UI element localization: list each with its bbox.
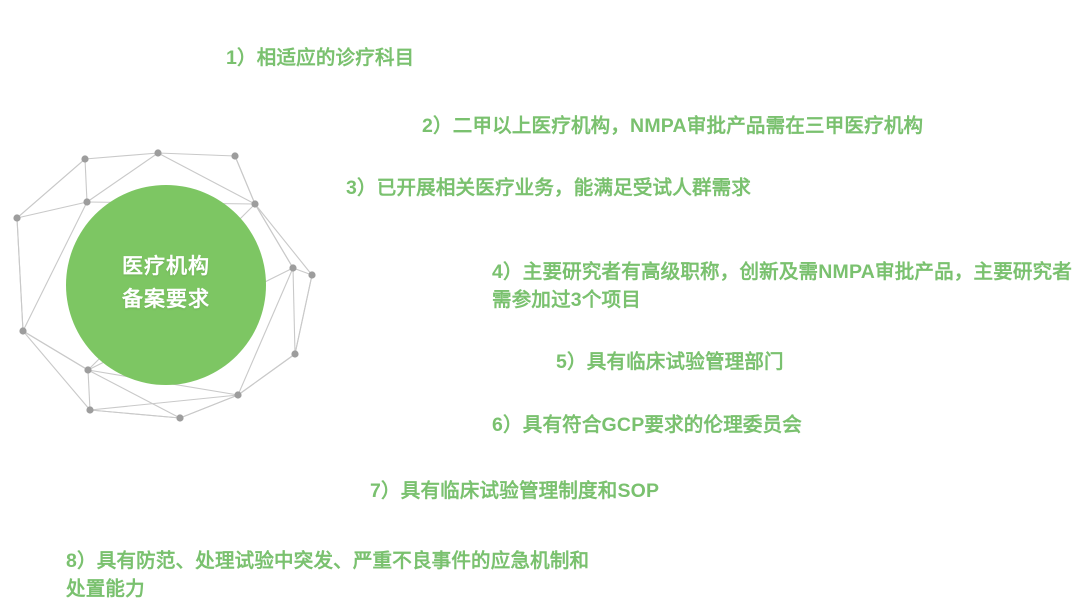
- bullet-item-5: 5）具有临床试验管理部门: [556, 348, 784, 376]
- bullet-item-1: 1）相适应的诊疗科目: [226, 44, 414, 72]
- hub-label-line1: 医疗机构: [66, 250, 266, 283]
- bullet-item-6: 6）具有符合GCP要求的伦理委员会: [492, 411, 802, 439]
- network-diagram: 医疗机构 备案要求: [0, 140, 330, 460]
- bullet-item-3: 3）已开展相关医疗业务，能满足受试人群需求: [346, 174, 751, 202]
- bullet-item-8: 8）具有防范、处理试验中突发、严重不良事件的应急机制和处置能力: [66, 547, 606, 603]
- bullet-item-7: 7）具有临床试验管理制度和SOP: [370, 477, 659, 505]
- bullet-item-2: 2）二甲以上医疗机构，NMPA审批产品需在三甲医疗机构: [422, 112, 923, 140]
- slide-canvas: 医疗机构 备案要求 1）相适应的诊疗科目 2）二甲以上医疗机构，NMPA审批产品…: [0, 0, 1080, 610]
- bullet-item-4: 4）主要研究者有高级职称，创新及需NMPA审批产品，主要研究者需参加过3个项目: [492, 258, 1080, 314]
- hub-label-line2: 备案要求: [66, 283, 266, 316]
- hub-label: 医疗机构 备案要求: [66, 250, 266, 316]
